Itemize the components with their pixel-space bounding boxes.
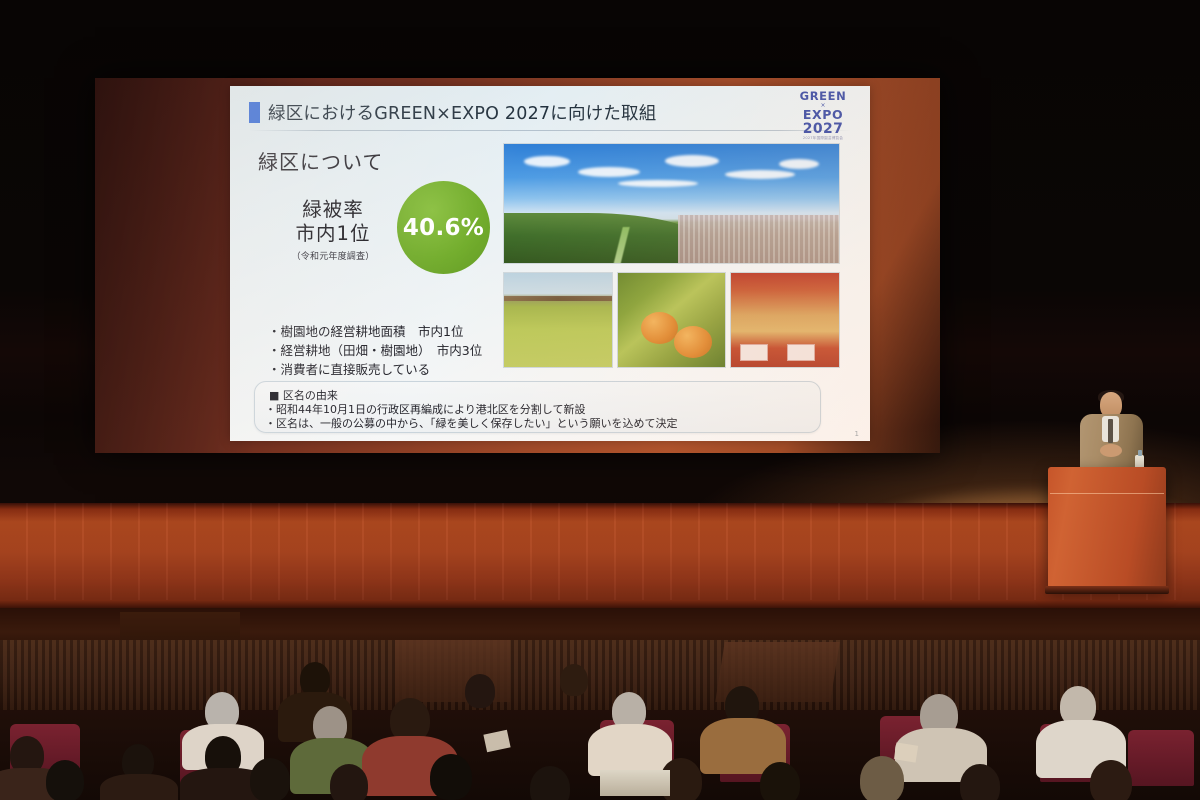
audience-head bbox=[760, 762, 800, 800]
podium bbox=[1048, 467, 1166, 587]
photo-cloud bbox=[578, 167, 640, 177]
audience-head bbox=[860, 756, 904, 800]
district-name-origin-box: ■ 区名の由来 ・昭和44年10月1日の行政区再編成により港北区を分割して新設 … bbox=[254, 381, 821, 433]
photo-row bbox=[503, 272, 840, 368]
stat-label-line2: 市内1位 bbox=[268, 222, 398, 246]
fruit-shape bbox=[641, 312, 678, 344]
audience-shoulders bbox=[588, 724, 672, 776]
slide-title-row: 緑区におけるGREEN×EXPO 2027に向けた取組 bbox=[249, 100, 656, 125]
audience-head bbox=[330, 764, 368, 800]
projection-screen: 緑区におけるGREEN×EXPO 2027に向けた取組 GREEN × EXPO… bbox=[95, 78, 940, 453]
slide-title: 緑区におけるGREEN×EXPO 2027に向けた取組 bbox=[268, 100, 656, 125]
photo-cloud bbox=[618, 180, 698, 187]
presentation-slide: 緑区におけるGREEN×EXPO 2027に向けた取組 GREEN × EXPO… bbox=[230, 86, 870, 441]
stat-label-line1: 緑被率 bbox=[268, 198, 398, 222]
section-heading: 緑区について bbox=[258, 146, 383, 175]
farm-stand-photo bbox=[730, 272, 840, 368]
bullet-item-2: ・経営耕地（田畑・樹園地） 市内3位 bbox=[268, 341, 482, 360]
photo-city-area bbox=[678, 215, 839, 263]
audience-head bbox=[560, 664, 588, 696]
photo-cloud bbox=[524, 156, 570, 167]
audience-seating bbox=[0, 640, 1200, 800]
audience-head bbox=[465, 674, 495, 708]
hall-side-wall bbox=[0, 640, 1200, 710]
audience-head bbox=[1090, 760, 1132, 800]
audience-head bbox=[300, 662, 330, 696]
podium-base bbox=[1045, 586, 1169, 594]
audience-head bbox=[430, 754, 472, 800]
logo-line-expo: EXPO bbox=[792, 109, 854, 122]
green-coverage-circle: 40.6% bbox=[397, 181, 490, 274]
speaker-necktie bbox=[1108, 419, 1113, 443]
green-expo-2027-logo: GREEN × EXPO 2027 2027年国際園芸博覧会 bbox=[792, 91, 854, 141]
origin-box-line-2: ・区名は、一般の公募の中から、「緑を美しく保存したい」という願いを込めて決定 bbox=[265, 415, 678, 431]
logo-tagline: 2027年国際園芸博覧会 bbox=[792, 137, 854, 141]
title-accent-bar bbox=[249, 102, 260, 123]
rice-field-photo bbox=[503, 272, 613, 368]
bullet-item-3: ・消費者に直接販売している bbox=[268, 360, 482, 379]
audience-paper bbox=[894, 742, 918, 762]
fruit-orchard-photo bbox=[617, 272, 727, 368]
audience-paper bbox=[483, 730, 510, 753]
audience-head bbox=[46, 760, 84, 800]
audience-head bbox=[530, 766, 570, 800]
bullet-item-1: ・樹園地の経営耕地面積 市内1位 bbox=[268, 322, 482, 341]
photo-cloud bbox=[665, 155, 719, 167]
price-tag bbox=[740, 344, 768, 361]
green-coverage-value: 40.6% bbox=[403, 215, 484, 241]
projector-equipment bbox=[600, 770, 670, 796]
stat-source-note: （令和元年度調査） bbox=[268, 249, 398, 262]
podium-seam bbox=[1050, 493, 1164, 494]
audience-head bbox=[250, 758, 290, 800]
aerial-cityscape-photo bbox=[503, 143, 840, 264]
audience-seat bbox=[1128, 730, 1194, 786]
audience-head bbox=[960, 764, 1000, 800]
green-coverage-stat: 緑被率 市内1位 （令和元年度調査） bbox=[268, 198, 398, 262]
logo-line-green: GREEN bbox=[792, 91, 854, 103]
auditorium-scene: 緑区におけるGREEN×EXPO 2027に向けた取組 GREEN × EXPO… bbox=[0, 0, 1200, 800]
price-tag bbox=[787, 344, 815, 361]
logo-line-year: 2027 bbox=[792, 122, 854, 136]
title-divider bbox=[249, 130, 851, 131]
stage-floor bbox=[0, 503, 1200, 608]
audience-shoulders bbox=[100, 774, 178, 800]
speaker-hands bbox=[1100, 444, 1122, 457]
slide-page-number: 1 bbox=[855, 430, 859, 438]
fruit-shape bbox=[674, 326, 713, 358]
